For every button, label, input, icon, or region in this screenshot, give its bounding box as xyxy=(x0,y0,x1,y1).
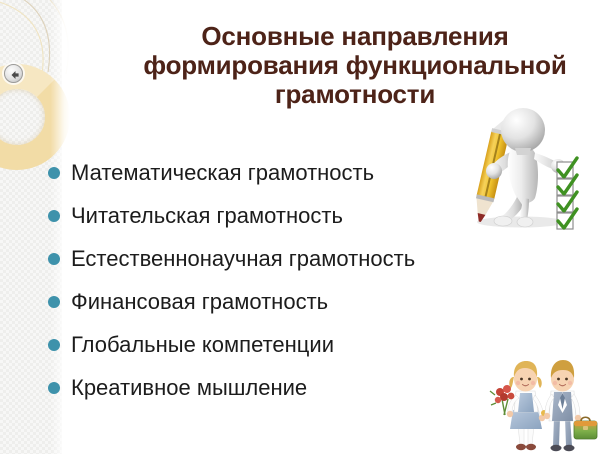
list-item: Финансовая грамотность xyxy=(48,287,518,330)
list-item: Математическая грамотность xyxy=(48,158,518,201)
back-arrow-icon[interactable] xyxy=(4,64,23,83)
list-item-label: Финансовая грамотность xyxy=(71,289,328,314)
bullet-dot-icon xyxy=(48,253,60,265)
slide-canvas: Основные направления формирования функци… xyxy=(0,0,600,454)
list-item: Естественнонаучная грамотность xyxy=(48,244,518,287)
girl-figure xyxy=(490,361,547,450)
list-item-label: Глобальные компетенции xyxy=(71,332,334,357)
list-item-label: Читательская грамотность xyxy=(71,203,343,228)
list-item: Читательская грамотность xyxy=(48,201,518,244)
arc-decoration xyxy=(0,0,90,74)
checkmark-list-icon xyxy=(557,158,577,229)
list-item: Глобальные компетенции xyxy=(48,330,518,373)
title-line-1: Основные направления xyxy=(120,22,590,51)
list-item-label: Креативное мышление xyxy=(71,375,307,400)
figure-with-pencil-image xyxy=(455,103,600,231)
bullet-dot-icon xyxy=(48,167,60,179)
bullet-dot-icon xyxy=(48,296,60,308)
title-line-2: формирования функциональной xyxy=(120,51,590,80)
list-item-label: Естественнонаучная грамотность xyxy=(71,246,415,271)
left-arrow-glyph xyxy=(9,70,20,80)
list-item: Креативное мышление xyxy=(48,373,518,416)
list-item-label: Математическая грамотность xyxy=(71,160,374,185)
directions-list: Математическая грамотность Читательская … xyxy=(48,158,518,416)
boy-figure xyxy=(544,360,597,451)
bullet-dot-icon xyxy=(48,210,60,222)
bullet-dot-icon xyxy=(48,382,60,394)
schoolchildren-image xyxy=(478,355,600,454)
bullet-dot-icon xyxy=(48,339,60,351)
page-title: Основные направления формирования функци… xyxy=(120,22,590,109)
